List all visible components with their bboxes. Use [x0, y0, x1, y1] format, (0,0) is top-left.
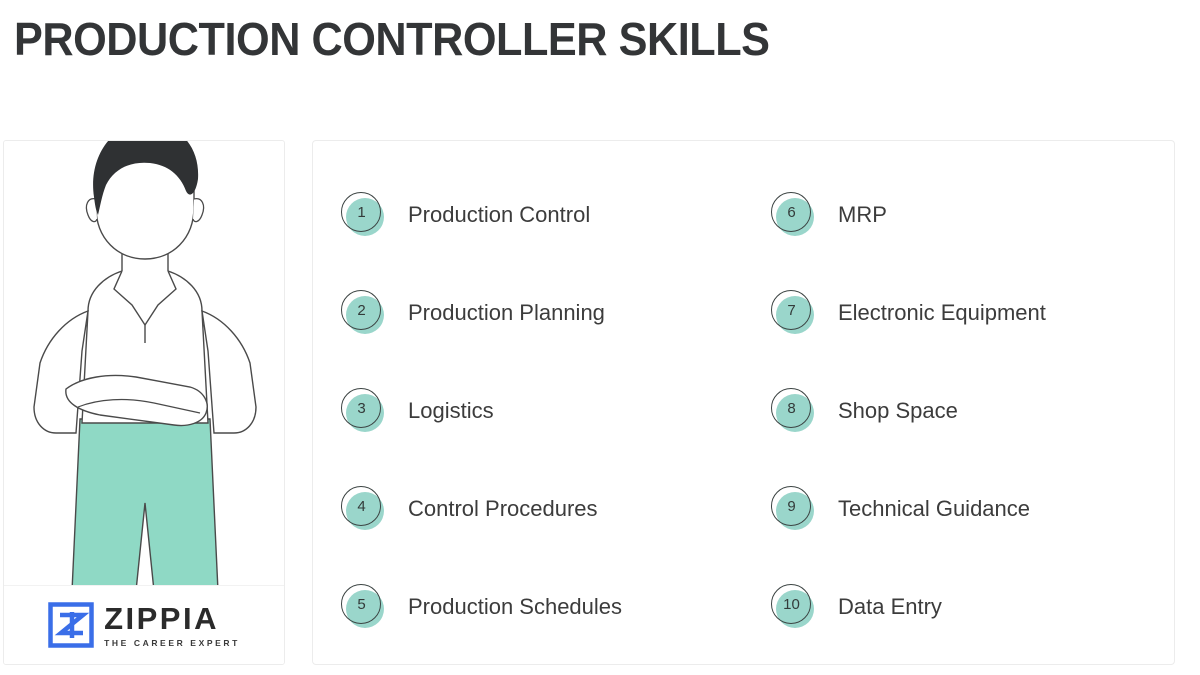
skill-number-badge: 1	[341, 192, 387, 238]
skill-item: 2Production Planning	[341, 283, 771, 343]
badge-number: 8	[771, 388, 812, 429]
infographic-page: PRODUCTION CONTROLLER SKILLS	[0, 0, 1200, 675]
skill-number-badge: 5	[341, 584, 387, 630]
skill-number-badge: 8	[771, 388, 817, 434]
skill-number-badge: 2	[341, 290, 387, 336]
skill-item: 1Production Control	[341, 185, 771, 245]
badge-number: 9	[771, 486, 812, 527]
skill-item: 9Technical Guidance	[771, 479, 1154, 539]
skill-label: Production Planning	[408, 300, 605, 326]
skill-item: 10Data Entry	[771, 577, 1154, 637]
badge-number: 1	[341, 192, 382, 233]
skill-label: Data Entry	[838, 594, 942, 620]
page-title: PRODUCTION CONTROLLER SKILLS	[14, 12, 770, 66]
person-illustration	[4, 140, 285, 591]
skill-item: 4Control Procedures	[341, 479, 771, 539]
badge-number: 2	[341, 290, 382, 331]
badge-number: 7	[771, 290, 812, 331]
skill-label: Shop Space	[838, 398, 958, 424]
skill-number-badge: 6	[771, 192, 817, 238]
skill-number-badge: 4	[341, 486, 387, 532]
badge-number: 6	[771, 192, 812, 233]
skill-label: Technical Guidance	[838, 496, 1030, 522]
badge-number: 3	[341, 388, 382, 429]
skill-item: 3Logistics	[341, 381, 771, 441]
skill-item: 8Shop Space	[771, 381, 1154, 441]
skill-label: Control Procedures	[408, 496, 598, 522]
skill-number-badge: 9	[771, 486, 817, 532]
skill-label: Production Control	[408, 202, 590, 228]
skill-label: Production Schedules	[408, 594, 622, 620]
skill-label: Electronic Equipment	[838, 300, 1046, 326]
zippia-z-logo-icon	[48, 602, 94, 648]
skill-item: 7Electronic Equipment	[771, 283, 1154, 343]
skills-list: 1Production Control6MRP2Production Plann…	[341, 185, 1154, 675]
badge-number: 5	[341, 584, 382, 625]
skill-label: Logistics	[408, 398, 494, 424]
zippia-logo: ZIPPIA THE CAREER EXPERT	[4, 585, 284, 664]
badge-number: 4	[341, 486, 382, 527]
skill-label: MRP	[838, 202, 887, 228]
zippia-logo-text: ZIPPIA THE CAREER EXPERT	[104, 603, 240, 648]
skills-panel: 1Production Control6MRP2Production Plann…	[312, 140, 1175, 665]
skill-number-badge: 3	[341, 388, 387, 434]
skill-item: 6MRP	[771, 185, 1154, 245]
zippia-tagline: THE CAREER EXPERT	[104, 639, 240, 648]
illustration-panel: ZIPPIA THE CAREER EXPERT	[3, 140, 285, 665]
badge-number: 10	[771, 584, 812, 625]
skill-number-badge: 7	[771, 290, 817, 336]
skill-item: 5Production Schedules	[341, 577, 771, 637]
zippia-wordmark: ZIPPIA	[104, 603, 240, 634]
skill-number-badge: 10	[771, 584, 817, 630]
